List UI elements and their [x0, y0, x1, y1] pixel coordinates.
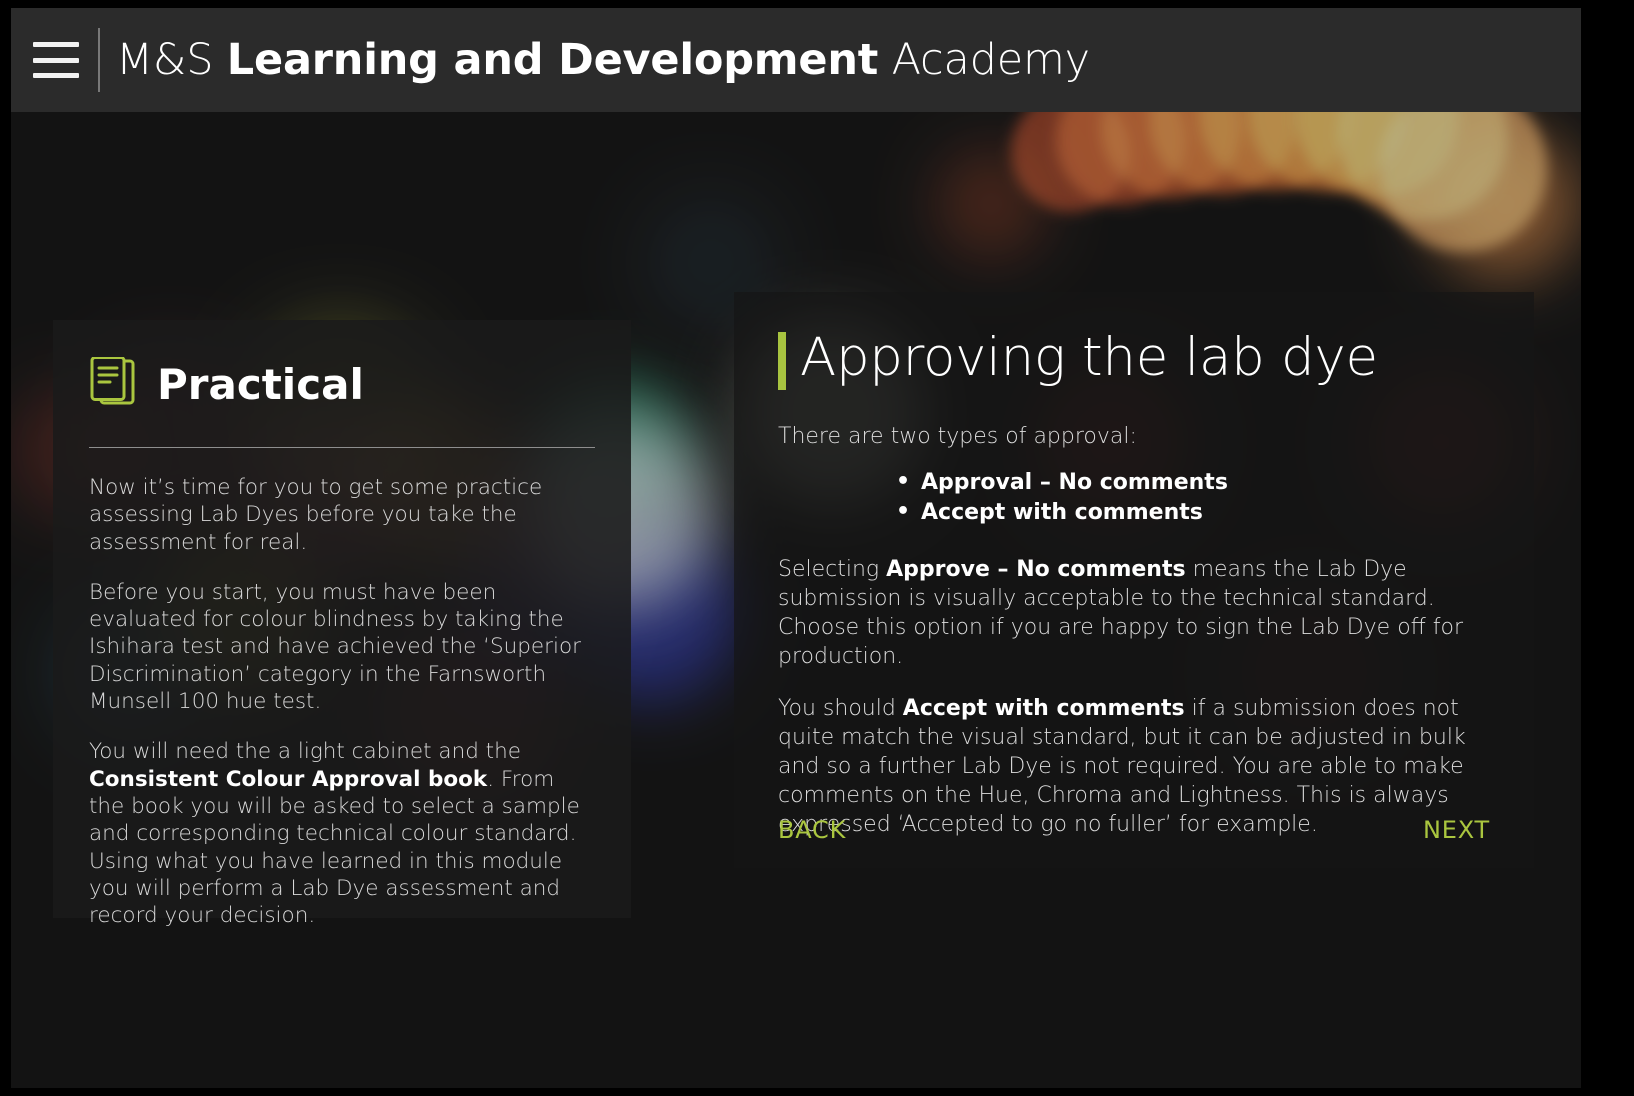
approval-type-item: Accept with comments [896, 498, 1490, 528]
lesson-navigation: BACK NEXT [778, 816, 1490, 844]
practical-card-header: Practical [89, 354, 595, 416]
header-divider [98, 28, 100, 92]
emphasis-text: Accept with comments [903, 696, 1185, 721]
brand-prefix: M&S [116, 35, 227, 85]
page-title: Approving the lab dye [800, 328, 1378, 396]
approval-type-item: Approval – No comments [896, 468, 1490, 498]
emphasis-text: Consistent Colour Approval book [89, 767, 487, 792]
approval-types-list: Approval – No commentsAccept with commen… [896, 468, 1490, 529]
practical-card: Practical Now it’s time for you to get s… [53, 320, 631, 918]
brand-suffix: Academy [878, 35, 1090, 85]
lesson-intro-text: There are two types of approval: [778, 424, 1490, 449]
lesson-heading-wrapper: Approving the lab dye [778, 328, 1490, 396]
hamburger-bar-1 [33, 42, 79, 47]
practical-card-body: Now it’s time for you to get some practi… [89, 474, 595, 929]
body-text: Selecting [778, 557, 886, 582]
practical-paragraph-2: Before you start, you must have been eva… [89, 579, 595, 715]
lesson-paragraph-1: Selecting Approve – No comments means th… [778, 555, 1490, 671]
body-text: Before you start, you must have been eva… [89, 580, 581, 714]
lesson-body-text: Selecting Approve – No comments means th… [778, 555, 1490, 839]
practical-card-title: Practical [157, 364, 364, 406]
app-header: M&S Learning and Development Academy [11, 8, 1581, 112]
app-stage: M&S Learning and Development Academy Pra… [11, 8, 1581, 1088]
body-text: You should [778, 696, 903, 721]
next-button[interactable]: NEXT [1423, 816, 1490, 844]
back-button[interactable]: BACK [778, 816, 846, 844]
heading-accent-bar [778, 332, 786, 390]
practical-paragraph-1: Now it’s time for you to get some practi… [89, 474, 595, 556]
brand-strong: Learning and Development [227, 35, 878, 85]
body-text: You will need the a light cabinet and th… [89, 739, 521, 764]
brand-title: M&S Learning and Development Academy [116, 39, 1090, 82]
practical-paragraph-3: You will need the a light cabinet and th… [89, 738, 595, 929]
emphasis-text: Approve – No comments [886, 557, 1185, 582]
hamburger-bar-3 [33, 73, 79, 78]
documents-stack-icon [89, 357, 137, 413]
lesson-content-panel: Approving the lab dye There are two type… [734, 292, 1534, 868]
hamburger-menu-icon[interactable] [33, 38, 79, 82]
practical-card-divider [89, 447, 595, 448]
body-text: Now it’s time for you to get some practi… [89, 475, 542, 555]
hamburger-bar-2 [33, 58, 79, 63]
